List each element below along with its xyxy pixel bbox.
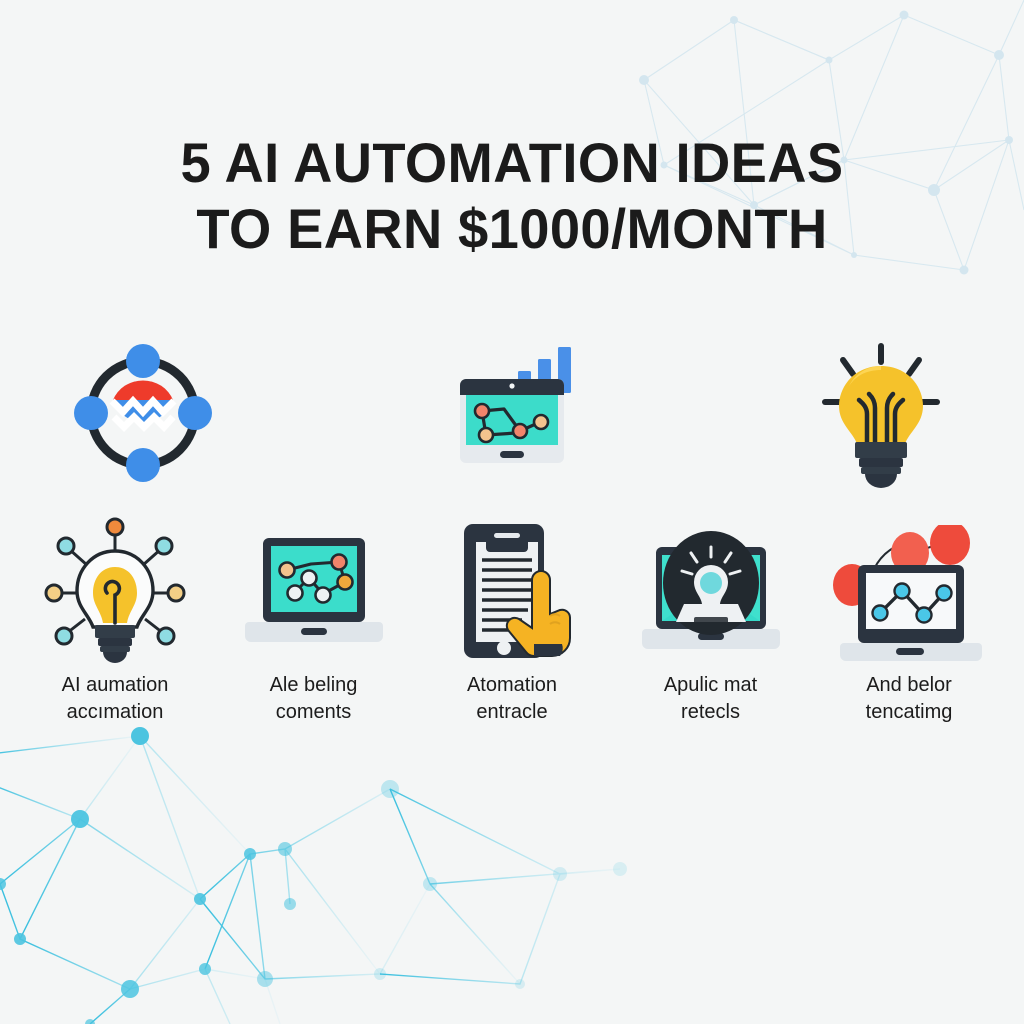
caption-1-line-2: accımation: [20, 699, 210, 726]
title-line-1: 5 AI AUTOMATION IDEAS: [15, 130, 1008, 196]
poster-canvas: 5 AI AUTOMATION IDEAS TO EARN $1000/MONT…: [0, 0, 1024, 1024]
tablet-tap-document-icon: [442, 520, 582, 665]
caption-4-line-2: retecls: [616, 699, 806, 726]
icon-cell-monitor-insight: [616, 505, 806, 665]
caption-4-line-1: Apulic mat: [616, 672, 806, 699]
network-hub-icon: [68, 338, 218, 488]
icon-row-bottom: [0, 505, 1024, 665]
laptop-node-graph-icon: [239, 530, 389, 665]
lightbulb-icon: [809, 338, 954, 488]
network-constellation-bottom-left-icon: [0, 724, 640, 1024]
caption-item-5: And belor tencatimg: [814, 672, 1004, 726]
title-line-2: TO EARN $1000/MONTH: [15, 196, 1008, 262]
icon-row-top: [0, 330, 1024, 495]
caption-item-3: Atomation entracle: [417, 672, 607, 726]
icon-cell-idea-network-bulb: [20, 505, 210, 665]
caption-item-4: Apulic mat retecls: [616, 672, 806, 726]
caption-2-line-1: Ale beling: [219, 672, 409, 699]
caption-item-1: AI aumation accımation: [20, 672, 210, 726]
idea-network-bulb-icon: [43, 515, 188, 665]
page-title: 5 AI AUTOMATION IDEAS TO EARN $1000/MONT…: [0, 130, 1024, 262]
caption-5-line-1: And belor: [814, 672, 1004, 699]
caption-1-line-1: AI aumation: [20, 672, 210, 699]
caption-item-2: Ale beling coments: [219, 672, 409, 726]
icon-cell-tablet-tap-document: [417, 505, 607, 665]
icon-cell-network-hub: [48, 330, 238, 495]
caption-row: AI aumation accımation Ale beling coment…: [20, 672, 1004, 726]
tablet-analytics-icon: [442, 343, 582, 483]
caption-5-line-2: tencatimg: [814, 699, 1004, 726]
monitor-insight-icon: [636, 525, 786, 665]
icon-cell-laptop-node-graph: [219, 505, 409, 665]
icon-cell-tablet-analytics: [417, 330, 607, 495]
laptop-chart-balloons-icon: [832, 525, 987, 665]
icon-cell-lightbulb: [786, 330, 976, 495]
caption-2-line-2: coments: [219, 699, 409, 726]
caption-3-line-2: entracle: [417, 699, 607, 726]
icon-cell-laptop-chart-balloons: [814, 505, 1004, 665]
caption-3-line-1: Atomation: [417, 672, 607, 699]
